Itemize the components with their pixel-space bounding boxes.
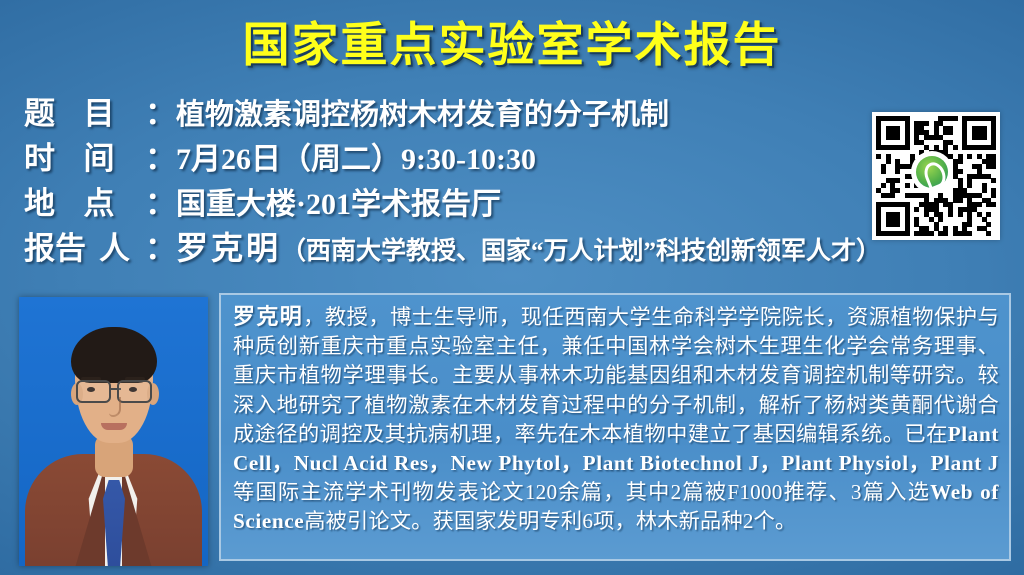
info-label-time-b: 间: [84, 133, 115, 178]
speaker-bio-panel: 罗克明，教授，博士生导师，现任西南大学生命科学学院院长，资源植物保护与种质创新重…: [219, 293, 1011, 561]
speaker-bio-text: 罗克明，教授，博士生导师，现任西南大学生命科学学院院长，资源植物保护与种质创新重…: [233, 303, 999, 537]
glasses-lens-right: [117, 380, 152, 403]
info-label-topic-b: 目: [84, 88, 115, 133]
info-label-time-colon: ：: [145, 133, 176, 178]
seminar-poster: 国家重点实验室学术报告 题 目 ： 植物激素调控杨树木材发育的分子机制 时 间 …: [0, 0, 1024, 575]
photo-nose: [109, 397, 121, 417]
info-label-topic: 题 目 ：: [24, 88, 176, 133]
info-label-speaker-colon: ：: [145, 223, 176, 268]
page-title: 国家重点实验室学术报告: [0, 6, 1024, 75]
bio-part-1: ，教授，博士生导师，现任西南大学生命科学学院院长，资源植物保护与种质创新重庆市重…: [233, 305, 999, 446]
speaker-name: 罗克明: [176, 230, 281, 266]
info-value-speaker: 罗克明（西南大学教授、国家“万人计划”科技创新领军人才）: [176, 223, 881, 269]
info-value-topic: 植物激素调控杨树木材发育的分子机制: [176, 91, 669, 133]
info-label-place-b: 点: [84, 178, 115, 223]
info-block: 题 目 ： 植物激素调控杨树木材发育的分子机制 时 间 ： 7月26日（周二）9…: [24, 88, 864, 268]
info-label-topic-colon: ：: [145, 88, 176, 133]
info-row-topic: 题 目 ： 植物激素调控杨树木材发育的分子机制: [24, 88, 864, 133]
bio-part-2: 等国际主流学术刊物发表论文120余篇，其中2篇被F1000推荐、3篇入选: [233, 480, 930, 504]
info-value-time: 7月26日（周二）9:30-10:30: [176, 134, 536, 178]
info-row-time: 时 间 ： 7月26日（周二）9:30-10:30: [24, 133, 864, 178]
qr-code[interactable]: [872, 112, 1000, 240]
info-label-time-a: 时: [24, 133, 55, 178]
info-value-place: 国重大楼·201学术报告厅: [176, 179, 501, 223]
info-label-speaker-b: 人: [99, 223, 130, 268]
info-label-place: 地 点 ：: [24, 178, 176, 223]
green-leaf-logo-icon: [913, 153, 951, 191]
speaker-affiliation: （西南大学教授、国家“万人计划”科技创新领军人才）: [281, 238, 881, 265]
speaker-photo: [19, 297, 208, 566]
info-row-place: 地 点 ： 国重大楼·201学术报告厅: [24, 178, 864, 223]
info-label-place-colon: ：: [145, 178, 176, 223]
info-label-speaker-a: 报告: [24, 223, 86, 268]
photo-mouth: [101, 423, 127, 430]
info-row-speaker: 报告 人 ： 罗克明（西南大学教授、国家“万人计划”科技创新领军人才）: [24, 223, 864, 268]
info-label-time: 时 间 ：: [24, 133, 176, 178]
glasses-lens-left: [76, 380, 111, 403]
info-label-topic-a: 题: [24, 88, 55, 133]
info-label-place-a: 地: [24, 178, 55, 223]
bio-part-3: 高被引论文。获国家发明专利6项，林木新品种2个。: [304, 509, 796, 533]
info-label-speaker: 报告 人 ：: [24, 223, 176, 268]
bio-speaker-name: 罗克明: [233, 305, 303, 330]
